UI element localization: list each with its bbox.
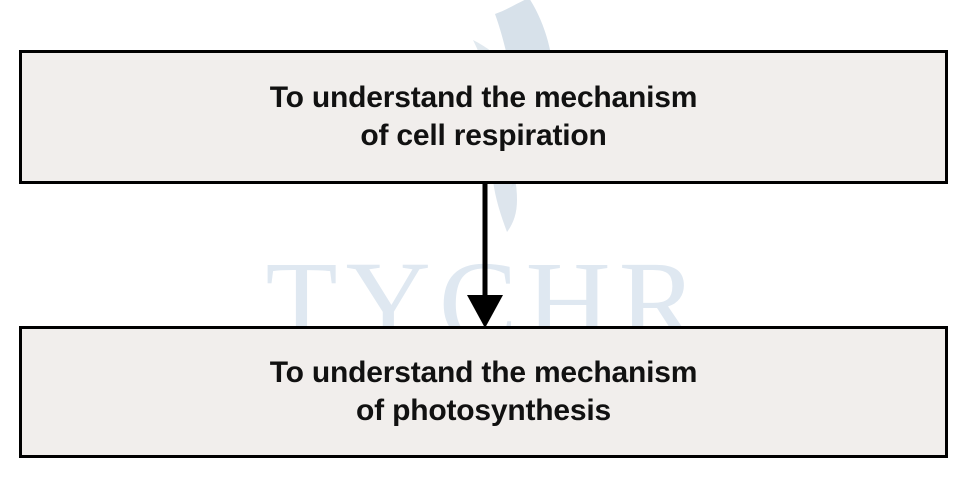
flowchart-node-cell-respiration[interactable]: To understand the mechanism of cell resp… [19,50,948,184]
flowchart-node-label: To understand the mechanism of cell resp… [270,79,697,156]
flowchart: To understand the mechanism of cell resp… [0,0,971,483]
diagram-canvas: TYCHR Friend, Philosopher, Guide To unde… [0,0,971,483]
flowchart-arrow-down [455,182,515,330]
flowchart-node-photosynthesis[interactable]: To understand the mechanism of photosynt… [19,326,948,458]
flowchart-node-label: To understand the mechanism of photosynt… [270,354,697,431]
